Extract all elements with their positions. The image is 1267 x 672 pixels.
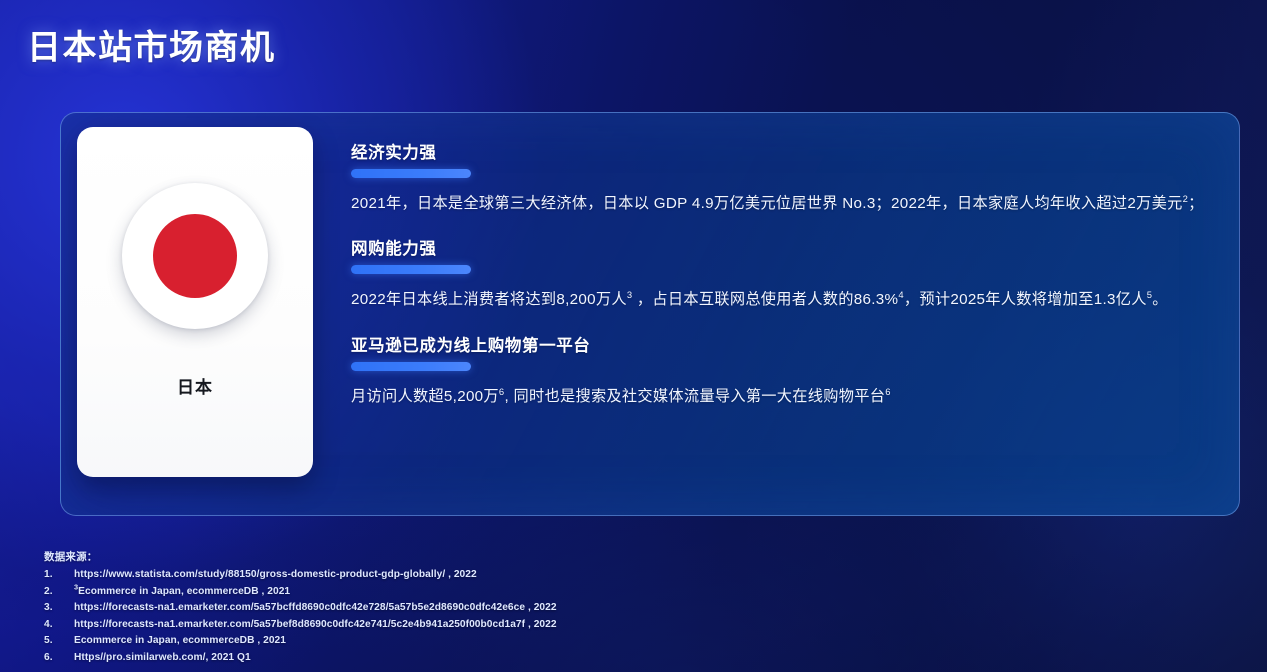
japan-flag-icon bbox=[122, 183, 268, 329]
country-label: 日本 bbox=[77, 373, 313, 398]
data-sources: 数据来源： 1. https://www.statista.com/study/… bbox=[44, 549, 557, 666]
page-title: 日本站市场商机 bbox=[27, 20, 276, 69]
block-heading: 亚马逊已成为线上购物第一平台 bbox=[351, 332, 1219, 356]
source-text: 3Ecommerce in Japan, ecommerceDB , 2021 bbox=[74, 584, 290, 601]
accent-underline-bar bbox=[351, 169, 471, 178]
highlight-block-amazon: 亚马逊已成为线上购物第一平台 月访问人数超5,200万6, 同时也是搜索及社交媒… bbox=[351, 332, 1219, 412]
country-card-japan: 日本 bbox=[77, 127, 313, 477]
source-text: https://www.statista.com/study/88150/gro… bbox=[74, 567, 477, 584]
source-item: 4. https://forecasts-na1.emarketer.com/5… bbox=[44, 617, 557, 634]
source-number: 3. bbox=[44, 600, 74, 617]
market-opportunity-panel: 日本 经济实力强 2021年，日本是全球第三大经济体，日本以 GDP 4.9万亿… bbox=[60, 112, 1240, 516]
source-text: Https//pro.similarweb.com/, 2021 Q1 bbox=[74, 650, 251, 667]
source-number: 5. bbox=[44, 633, 74, 650]
block-heading: 网购能力强 bbox=[351, 235, 1219, 259]
source-text: Ecommerce in Japan, ecommerceDB , 2021 bbox=[74, 633, 286, 650]
source-number: 6. bbox=[44, 650, 74, 667]
highlights-list: 经济实力强 2021年，日本是全球第三大经济体，日本以 GDP 4.9万亿美元位… bbox=[351, 139, 1219, 412]
highlight-block-online-shopping: 网购能力强 2022年日本线上消费者将达到8,200万人3 ，占日本互联网总使用… bbox=[351, 235, 1219, 315]
source-item: 1. https://www.statista.com/study/88150/… bbox=[44, 567, 557, 584]
source-item: 6. Https//pro.similarweb.com/, 2021 Q1 bbox=[44, 650, 557, 667]
block-heading: 经济实力强 bbox=[351, 139, 1219, 163]
source-text: https://forecasts-na1.emarketer.com/5a57… bbox=[74, 600, 557, 617]
source-item: 5. Ecommerce in Japan, ecommerceDB , 202… bbox=[44, 633, 557, 650]
source-number: 4. bbox=[44, 617, 74, 634]
source-text: https://forecasts-na1.emarketer.com/5a57… bbox=[74, 617, 557, 634]
source-item: 2. 3Ecommerce in Japan, ecommerceDB , 20… bbox=[44, 584, 557, 601]
block-body: 2022年日本线上消费者将达到8,200万人3 ，占日本互联网总使用者人数的86… bbox=[351, 285, 1219, 315]
accent-underline-bar bbox=[351, 265, 471, 274]
block-body: 月访问人数超5,200万6, 同时也是搜索及社交媒体流量导入第一大在线购物平台6 bbox=[351, 382, 1219, 412]
source-item: 3. https://forecasts-na1.emarketer.com/5… bbox=[44, 600, 557, 617]
accent-underline-bar bbox=[351, 362, 471, 371]
block-body: 2021年，日本是全球第三大经济体，日本以 GDP 4.9万亿美元位居世界 No… bbox=[351, 189, 1219, 219]
highlight-block-economy: 经济实力强 2021年，日本是全球第三大经济体，日本以 GDP 4.9万亿美元位… bbox=[351, 139, 1219, 219]
data-sources-title: 数据来源： bbox=[44, 549, 557, 564]
source-number: 2. bbox=[44, 584, 74, 601]
source-number: 1. bbox=[44, 567, 74, 584]
flag-red-disc bbox=[153, 214, 237, 298]
